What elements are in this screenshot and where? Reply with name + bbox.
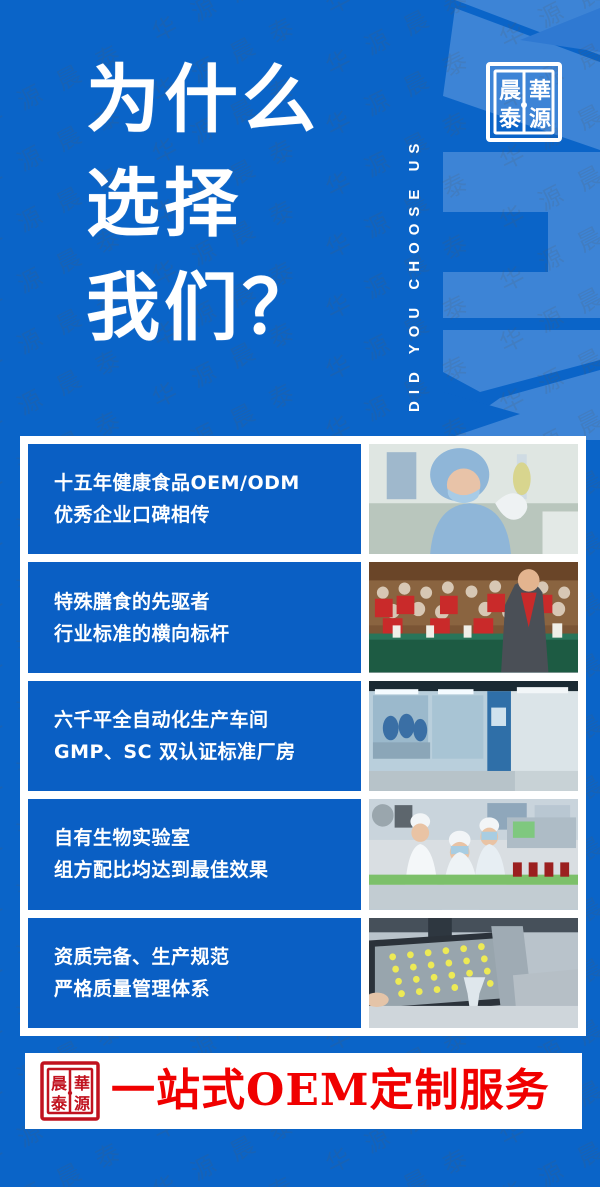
svg-text:晨: 晨 bbox=[499, 78, 522, 104]
headline-line-2: 选择 bbox=[86, 152, 320, 256]
feature-text-4: 自有生物实验室 组方配比均达到最佳效果 bbox=[28, 799, 361, 909]
watermark-tile: 华 源 晨 泰 bbox=[319, 99, 478, 203]
list-item: 十五年健康食品OEM/ODM 优秀企业口碑相传 bbox=[28, 444, 578, 554]
feature-text-5: 资质完备、生产规范 严格质量管理体系 bbox=[28, 918, 361, 1028]
bottom-cta-banner: 晨 泰 華 源 一站式OEM定制服务 bbox=[25, 1053, 582, 1129]
company-seal-red-icon: 晨 泰 華 源 bbox=[39, 1059, 101, 1123]
watermark-tile: 华 源 晨 泰 bbox=[319, 282, 478, 386]
features-card: 十五年健康食品OEM/ODM 优秀企业口碑相传 bbox=[20, 436, 586, 1036]
vertical-subtitle: DID YOU CHOOSE US bbox=[406, 22, 423, 412]
watermark-tile: 华 源 晨 泰 bbox=[319, 0, 478, 21]
feature-5-line-2: 严格质量管理体系 bbox=[54, 973, 361, 1005]
watermark-tile: 华 源 晨 泰 bbox=[319, 1136, 478, 1187]
watermark-tile: 华 源 晨 泰 bbox=[145, 1164, 304, 1187]
feature-photo-2 bbox=[369, 562, 578, 672]
features-list: 十五年健康食品OEM/ODM 优秀企业口碑相传 bbox=[28, 444, 578, 1028]
watermark-tile: 华 源 晨 泰 bbox=[319, 38, 478, 142]
feature-1-line-1: 十五年健康食品OEM/ODM bbox=[54, 467, 361, 499]
watermark-tile: 华 源 晨 泰 bbox=[319, 221, 478, 325]
feature-1-line-2: 优秀企业口碑相传 bbox=[54, 499, 361, 531]
list-item: 六千平全自动化生产车间 GMP、SC 双认证标准厂房 bbox=[28, 681, 578, 791]
page-title: 为什么 选择 我们？ bbox=[86, 48, 320, 360]
svg-text:源: 源 bbox=[529, 106, 551, 132]
svg-text:華: 華 bbox=[74, 1074, 90, 1093]
headline-line-1: 为什么 bbox=[86, 48, 320, 152]
feature-photo-3 bbox=[369, 681, 578, 791]
watermark-tile: 华 源 晨 泰 bbox=[492, 316, 600, 420]
svg-text:晨: 晨 bbox=[51, 1074, 68, 1093]
watermark-tile: 华 源 晨 泰 bbox=[319, 343, 478, 447]
svg-text:泰: 泰 bbox=[50, 1094, 68, 1113]
feature-3-line-2: GMP、SC 双认证标准厂房 bbox=[54, 736, 361, 768]
watermark-tile: 华 源 晨 泰 bbox=[492, 255, 600, 359]
svg-text:泰: 泰 bbox=[498, 106, 522, 132]
feature-text-1: 十五年健康食品OEM/ODM 优秀企业口碑相传 bbox=[28, 444, 361, 554]
feature-4-line-2: 组方配比均达到最佳效果 bbox=[54, 854, 361, 886]
list-item: 特殊膳食的先驱者 行业标准的横向标杆 bbox=[28, 562, 578, 672]
watermark-tile: 华 源 晨 泰 bbox=[145, 0, 304, 48]
watermark-tile: 华 源 晨 泰 bbox=[492, 194, 600, 298]
feature-photo-1 bbox=[369, 444, 578, 554]
watermark-tile: 华 源 晨 泰 bbox=[492, 0, 600, 54]
feature-5-line-1: 资质完备、生产规范 bbox=[54, 941, 361, 973]
watermark-tile: 华 源 晨 泰 bbox=[492, 1170, 600, 1187]
watermark-tile: 华 源 晨 泰 bbox=[319, 160, 478, 264]
headline-line-3: 我们？ bbox=[86, 256, 320, 360]
feature-photo-4 bbox=[369, 799, 578, 909]
watermark-tile: 华 源 晨 泰 bbox=[319, 0, 478, 82]
feature-3-line-1: 六千平全自动化生产车间 bbox=[54, 704, 361, 736]
list-item: 自有生物实验室 组方配比均达到最佳效果 bbox=[28, 799, 578, 909]
feature-2-line-1: 特殊膳食的先驱者 bbox=[54, 586, 361, 618]
list-item: 资质完备、生产规范 严格质量管理体系 bbox=[28, 918, 578, 1028]
watermark-tile: 华 源 晨 泰 bbox=[0, 1130, 131, 1187]
bottom-banner-text: 一站式OEM定制服务 bbox=[111, 1069, 550, 1113]
watermark-tile: 华 源 晨 泰 bbox=[492, 133, 600, 237]
feature-text-3: 六千平全自动化生产车间 GMP、SC 双认证标准厂房 bbox=[28, 681, 361, 791]
company-seal-icon: 晨 泰 華 源 bbox=[483, 58, 565, 146]
feature-4-line-1: 自有生物实验室 bbox=[54, 822, 361, 854]
feature-text-2: 特殊膳食的先驱者 行业标准的横向标杆 bbox=[28, 562, 361, 672]
feature-photo-5 bbox=[369, 918, 578, 1028]
svg-text:源: 源 bbox=[74, 1094, 90, 1113]
feature-2-line-2: 行业标准的横向标杆 bbox=[54, 618, 361, 650]
svg-text:華: 華 bbox=[529, 78, 551, 104]
poster-root: 华 源 晨 泰华 源 晨 泰华 源 晨 泰华 源 晨 泰 华 源 晨 泰华 源 … bbox=[0, 0, 600, 1187]
